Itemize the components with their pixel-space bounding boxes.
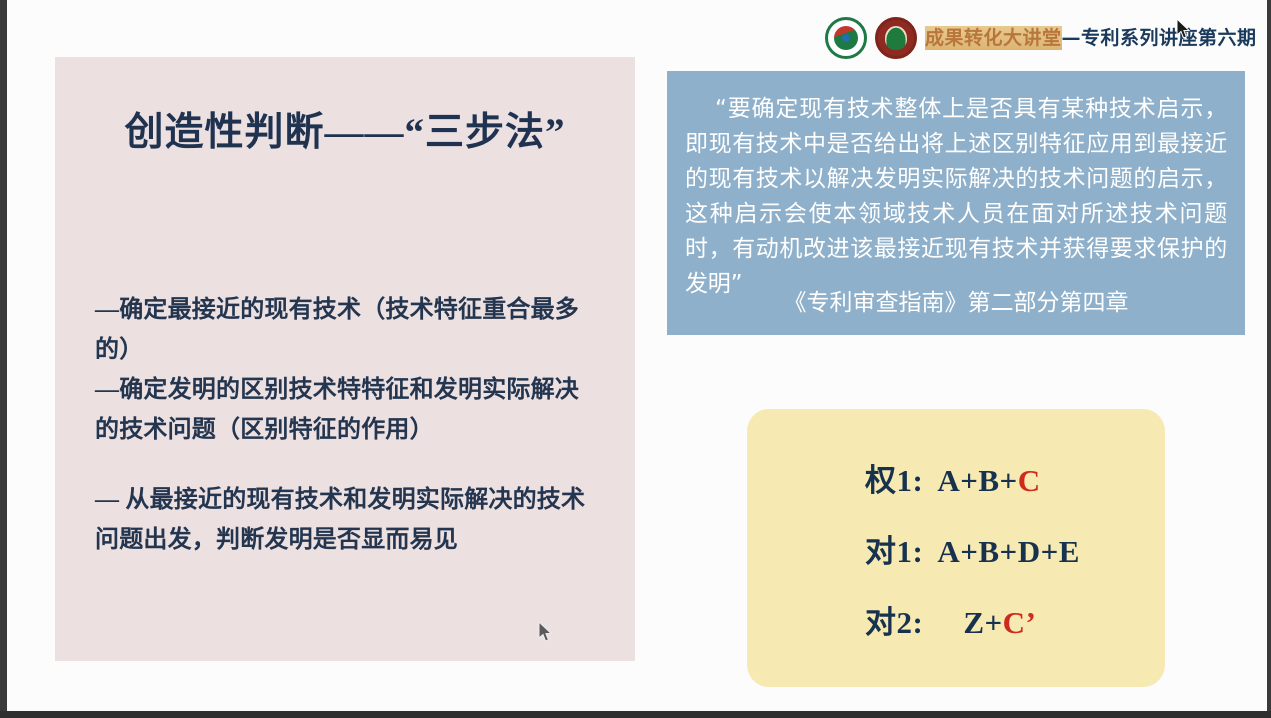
claim-row: 权1:A+B+C (865, 455, 1165, 500)
quotation-box: “要确定现有技术整体上是否具有某种技术启示，即现有技术中是否给出将上述区别特征应… (667, 71, 1245, 335)
claim-part: A+B+D+E (937, 534, 1080, 569)
screen-bezel-bottom (0, 711, 1271, 718)
claim-row-list: 权1:A+B+C 对1:A+B+D+E 对2:Z+C’ (747, 409, 1165, 687)
page-title: 创造性判断——“三步法” (55, 101, 635, 157)
screen-bezel-right (1267, 0, 1271, 718)
claim-label: 权1: (865, 463, 923, 498)
claim-part-highlight: C’ (1003, 605, 1037, 640)
claim-part: Z+ (963, 605, 1002, 640)
screen-bezel-left (0, 0, 7, 718)
quotation-text: “要确定现有技术整体上是否具有某种技术启示，即现有技术中是否给出将上述区别特征应… (685, 92, 1227, 302)
quotation-citation: 《专利审查指南》第二部分第四章 (685, 283, 1227, 317)
list-item: — 从最接近的现有技术和发明实际解决的技术问题出发，判断发明是否显而易见 (95, 480, 600, 560)
list-item: —确定发明的区别技术特特征和发明实际解决的技术问题（区别特征的作用） (95, 370, 600, 450)
claim-label: 对1: (865, 534, 923, 569)
claim-row: 对1:A+B+D+E (865, 526, 1165, 571)
screen: 成果转化大讲堂—专利系列讲座第六期 创造性判断——“三步法” —确定最接近的现有… (0, 0, 1271, 718)
header-title: 成果转化大讲堂—专利系列讲座第六期 (925, 27, 1257, 50)
claim-label: 对2: (865, 605, 923, 640)
claim-row: 对2:Z+C’ (865, 597, 1165, 642)
claim-part-highlight: C (1018, 463, 1041, 498)
bullet-list: —确定最接近的现有技术（技术特征重合最多的） —确定发明的区别技术特特征和发明实… (95, 290, 600, 560)
claim-part: A+B+ (937, 463, 1017, 498)
institution-emblem-red-icon (875, 17, 917, 59)
slide-header-banner: 成果转化大讲堂—专利系列讲座第六期 (825, 14, 1257, 62)
claim-comparison-box: 权1:A+B+C 对1:A+B+D+E 对2:Z+C’ (747, 409, 1165, 687)
header-title-highlight: 成果转化大讲堂 (925, 26, 1062, 50)
left-content-panel: 创造性判断——“三步法” —确定最接近的现有技术（技术特征重合最多的） —确定发… (55, 57, 635, 661)
header-title-rest: —专利系列讲座第六期 (1062, 27, 1257, 49)
list-item: —确定最接近的现有技术（技术特征重合最多的） (95, 290, 600, 370)
presentation-slide: 成果转化大讲堂—专利系列讲座第六期 创造性判断——“三步法” —确定最接近的现有… (7, 0, 1267, 711)
institution-emblem-green-icon (825, 17, 867, 59)
